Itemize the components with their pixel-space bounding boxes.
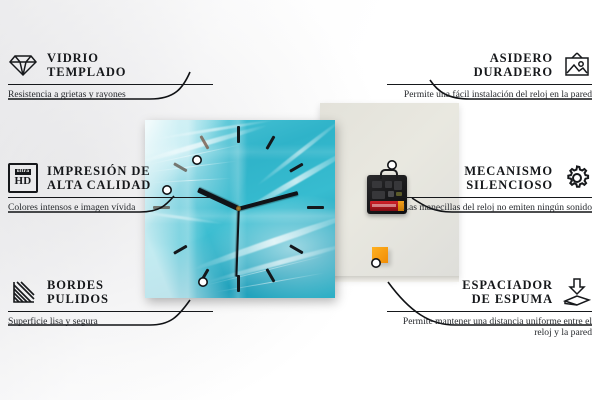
- picture-hanger-icon: [562, 50, 592, 80]
- callout-dot: [372, 259, 380, 267]
- feature-title-line: ASIDERO: [474, 51, 553, 66]
- ultra-hd-main-label: HD: [15, 176, 32, 187]
- feature-description: Superficie lisa y segura: [8, 316, 213, 327]
- divider: [387, 197, 592, 198]
- gear-icon: [562, 163, 592, 193]
- divider: [387, 311, 592, 312]
- diamond-icon: [8, 50, 38, 80]
- divider: [8, 84, 213, 85]
- feature-title: IMPRESIÓN DE ALTA CALIDAD: [47, 164, 151, 193]
- feature-description: Colores intensos e imagen vívida: [8, 202, 213, 213]
- feature-espaciador-de-espuma[interactable]: ESPACIADOR DE ESPUMA Permite mantener un…: [387, 277, 592, 339]
- infographic-canvas: VIDRIO TEMPLADO Resistencia a grietas y …: [0, 0, 600, 400]
- feature-asidero-duradero[interactable]: ASIDERO DURADERO Permite una fácil insta…: [387, 50, 592, 100]
- feature-title-line: PULIDOS: [47, 292, 109, 307]
- ultra-hd-icon: ultra HD: [8, 163, 38, 193]
- feature-title-line: DE ESPUMA: [462, 292, 553, 307]
- feature-title: ESPACIADOR DE ESPUMA: [462, 278, 553, 307]
- feature-vidrio-templado[interactable]: VIDRIO TEMPLADO Resistencia a grietas y …: [8, 50, 213, 100]
- foam-spacer-icon: [562, 277, 592, 307]
- feature-description: Permite mantener una distancia uniforme …: [387, 316, 592, 339]
- polished-edge-icon: [8, 277, 38, 307]
- feature-title-line: ESPACIADOR: [462, 278, 553, 293]
- feature-title-line: IMPRESIÓN DE: [47, 164, 151, 179]
- feature-description: Resistencia a grietas y rayones: [8, 89, 213, 100]
- feature-title-line: BORDES: [47, 278, 109, 293]
- feature-title-line: DURADERO: [474, 65, 553, 80]
- feature-title-line: VIDRIO: [47, 51, 126, 66]
- feature-mecanismo-silencioso[interactable]: MECANISMO SILENCIOSO Las manecillas del …: [387, 163, 592, 213]
- feature-title-line: MECANISMO: [464, 164, 553, 179]
- feature-description: Permite una fácil instalación del reloj …: [387, 89, 592, 100]
- feature-impresion-alta-calidad[interactable]: ultra HD IMPRESIÓN DE ALTA CALIDAD Color…: [8, 163, 213, 213]
- feature-title: MECANISMO SILENCIOSO: [464, 164, 553, 193]
- feature-description: Las manecillas del reloj no emiten ningú…: [387, 202, 592, 213]
- divider: [387, 84, 592, 85]
- feature-title-line: TEMPLADO: [47, 65, 126, 80]
- feature-bordes-pulidos[interactable]: BORDES PULIDOS Superficie lisa y segura: [8, 277, 213, 327]
- feature-title-line: SILENCIOSO: [464, 178, 553, 193]
- divider: [8, 197, 213, 198]
- feature-title: BORDES PULIDOS: [47, 278, 109, 307]
- feature-title: VIDRIO TEMPLADO: [47, 51, 126, 80]
- feature-title: ASIDERO DURADERO: [474, 51, 553, 80]
- divider: [8, 311, 213, 312]
- feature-title-line: ALTA CALIDAD: [47, 178, 151, 193]
